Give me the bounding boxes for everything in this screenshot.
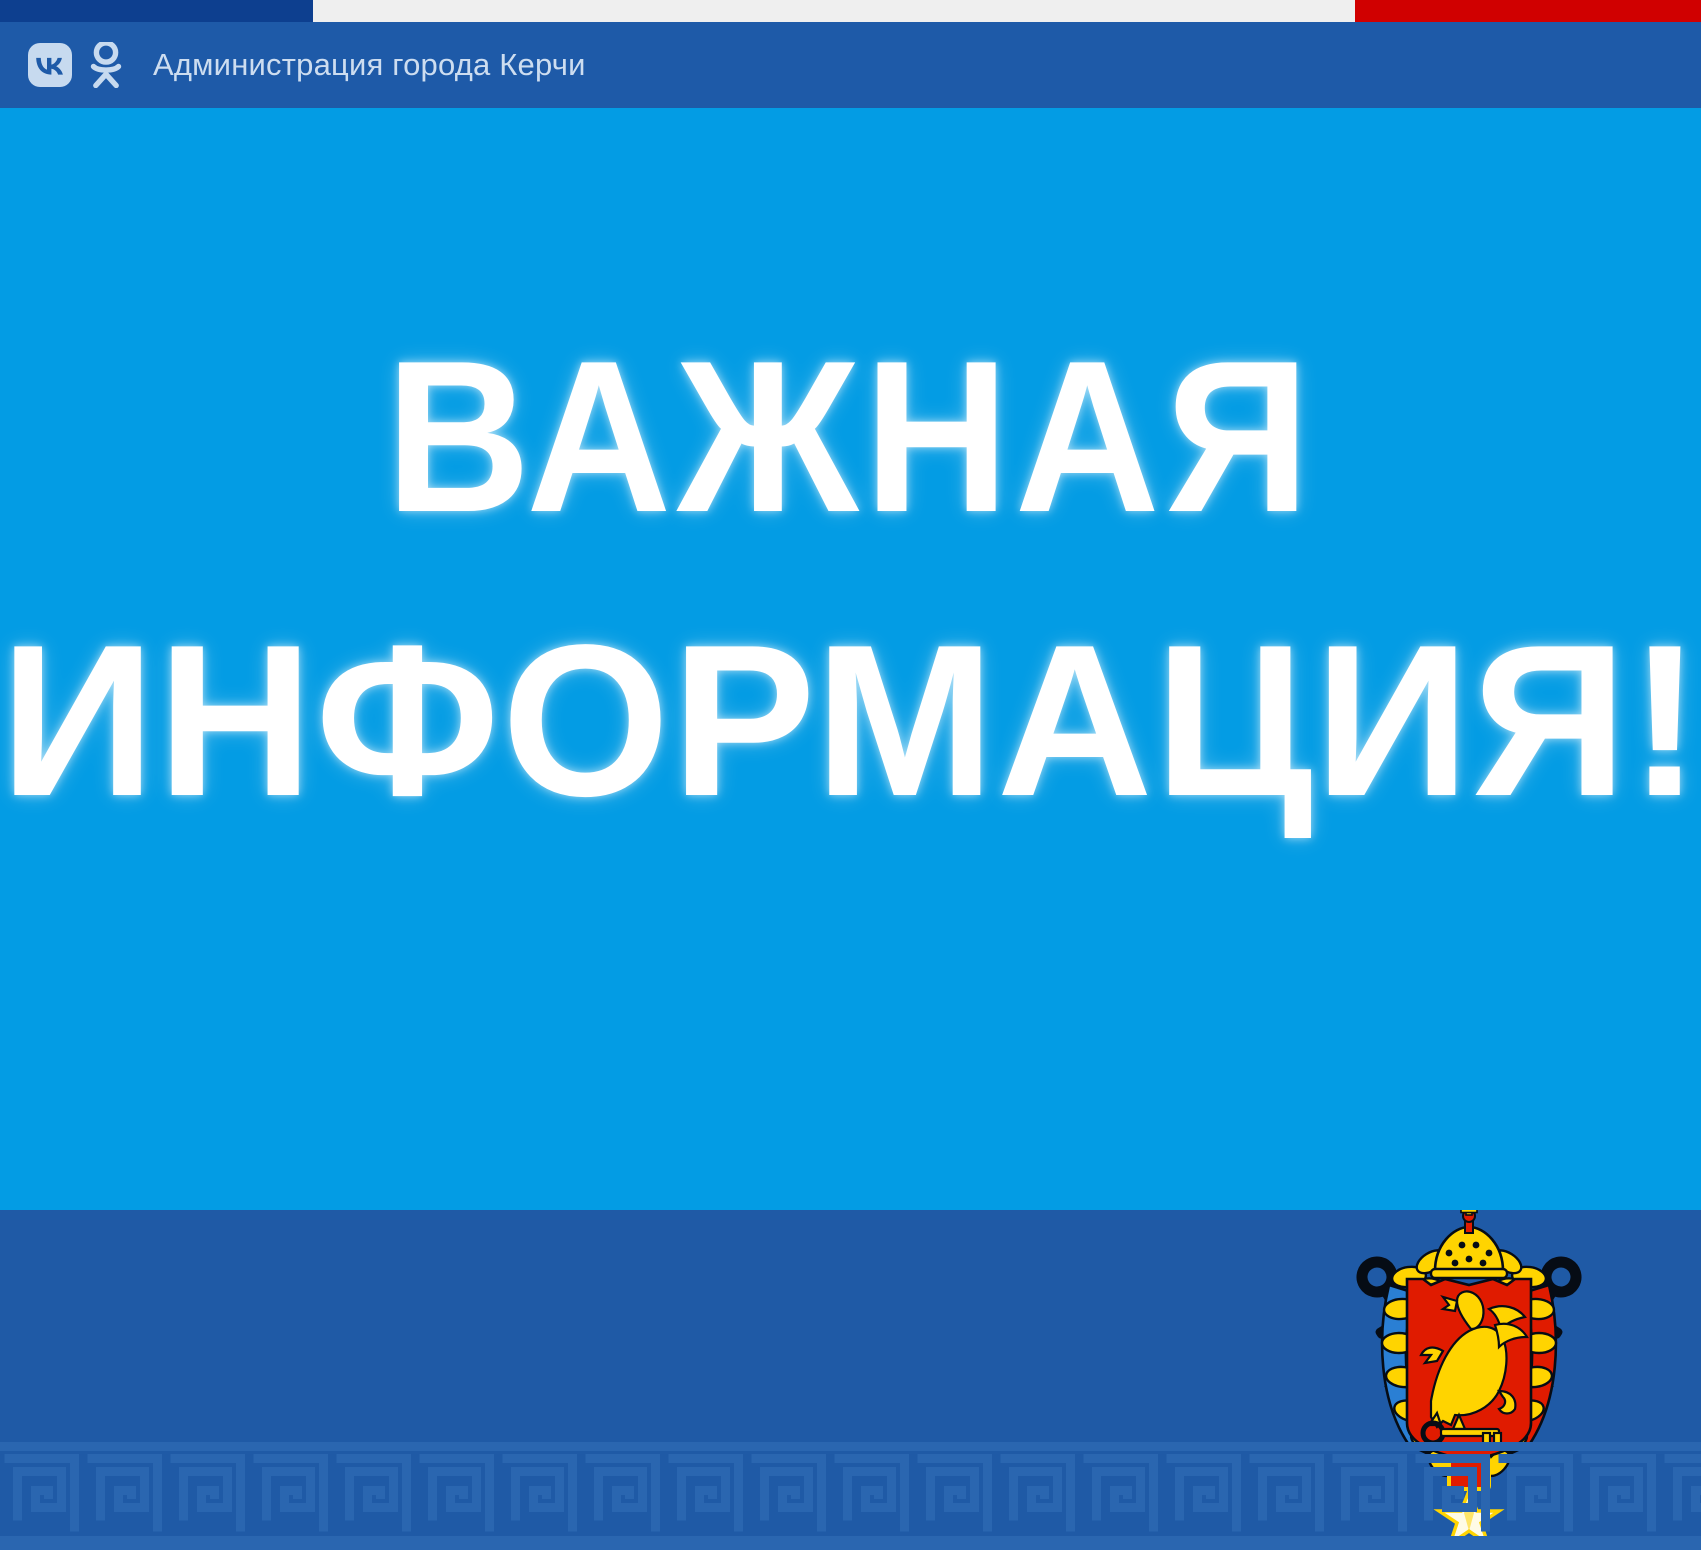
- meander-rule-top: [0, 1442, 1701, 1451]
- meander-pattern: [0, 1454, 1701, 1536]
- flag-band-blue: [0, 0, 313, 22]
- social-icon-group: [28, 42, 126, 88]
- poster-body: ВАЖНАЯ ИНФОРМАЦИЯ!: [0, 108, 1701, 1210]
- greek-meander-band: [0, 1440, 1701, 1550]
- poster-footer: [0, 1210, 1701, 1550]
- meander-rule-bottom: [0, 1536, 1701, 1550]
- vk-icon[interactable]: [28, 43, 72, 87]
- flag-band-red: [1355, 0, 1701, 22]
- poster-headline-line2: ИНФОРМАЦИЯ!: [0, 618, 1701, 823]
- russian-flag-strip: [0, 0, 1701, 22]
- flag-band-white: [313, 0, 1355, 22]
- imperial-crown: [1431, 1210, 1507, 1278]
- poster-headline-line1: ВАЖНАЯ: [60, 334, 1642, 539]
- shield: [1407, 1279, 1531, 1461]
- poster-page: Администрация города Керчи ВАЖНАЯ ИНФОРМ…: [0, 0, 1701, 1550]
- community-header: Администрация города Керчи: [0, 22, 1701, 108]
- community-title: Администрация города Керчи: [153, 47, 586, 83]
- ok-icon[interactable]: [86, 42, 126, 88]
